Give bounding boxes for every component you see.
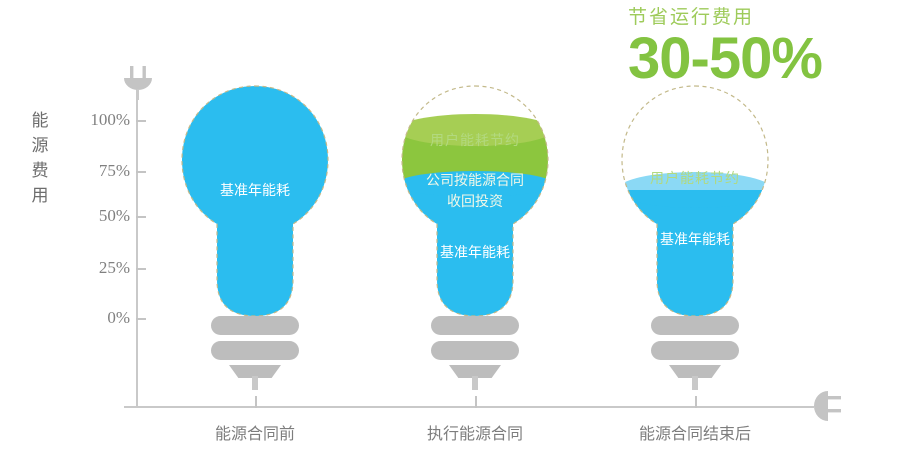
bulb-1-segment-label-baseline: 基准年能耗 bbox=[180, 180, 330, 201]
x-tick-3 bbox=[695, 396, 697, 408]
bulb-base-stem bbox=[692, 376, 698, 390]
y-tick-labels: 100% 75% 50% 25% 0% bbox=[52, 0, 130, 473]
bulb-base-thread bbox=[211, 316, 299, 335]
x-axis-label-1: 能源合同前 bbox=[165, 420, 345, 444]
bulb-2-base bbox=[431, 312, 519, 384]
y-axis-title: 能源费用 bbox=[28, 108, 52, 208]
y-tick-label-50: 50% bbox=[52, 206, 130, 226]
bulb-2-segment-label-baseline: 基准年能耗 bbox=[400, 242, 550, 263]
y-tick-label-0: 0% bbox=[52, 308, 130, 328]
bulb-3: 用户能耗节约 基准年能耗 bbox=[620, 84, 770, 318]
y-tick-label-100: 100% bbox=[52, 110, 130, 130]
y-tick-50 bbox=[136, 216, 146, 218]
y-axis-title-text: 能源费用 bbox=[28, 108, 52, 208]
x-axis-label-3: 能源合同结束后 bbox=[605, 420, 785, 444]
bulb-3-segment-label-baseline: 基准年能耗 bbox=[620, 229, 770, 250]
bulb-3-base bbox=[651, 312, 739, 384]
bulb-2-savings-label: 用户能耗节约 bbox=[395, 130, 555, 150]
x-axis-line bbox=[124, 406, 814, 408]
bulb-base-thread bbox=[431, 316, 519, 335]
bulb-base-stem bbox=[252, 376, 258, 390]
bulb-1: 基准年能耗 bbox=[180, 84, 330, 318]
bulb-base-thread bbox=[211, 341, 299, 360]
bulb-base-thread bbox=[651, 316, 739, 335]
y-tick-25 bbox=[136, 268, 146, 270]
x-axis-label-2: 执行能源合同 bbox=[385, 420, 565, 444]
y-tick-label-75: 75% bbox=[52, 161, 130, 181]
bulb-2-segment-label-company-2: 收回投资 bbox=[400, 191, 550, 212]
x-tick-1 bbox=[255, 396, 257, 408]
infographic-canvas: 节省运行费用 30-50% 100% 75% 50% 25% 0% 能源费用 bbox=[0, 0, 900, 473]
plug-socket-icon bbox=[806, 388, 842, 426]
bulb-2-segment-label-company-1: 公司按能源合同 bbox=[400, 170, 550, 191]
bulb-3-savings-label: 用户能耗节约 bbox=[615, 168, 775, 188]
y-axis-line bbox=[136, 78, 138, 408]
bulb-base-stem bbox=[472, 376, 478, 390]
headline-value: 30-50% bbox=[628, 28, 888, 90]
bulb-3-body bbox=[620, 84, 770, 318]
y-tick-100 bbox=[136, 120, 146, 122]
bulb-2: 用户能耗节约 公司按能源合同 收回投资 基准年能耗 bbox=[400, 84, 550, 318]
bulb-base-thread bbox=[431, 341, 519, 360]
y-tick-label-25: 25% bbox=[52, 258, 130, 278]
bulb-1-body bbox=[180, 84, 330, 318]
y-tick-0 bbox=[136, 318, 146, 320]
bulb-base-thread bbox=[651, 341, 739, 360]
bulb-1-base bbox=[211, 312, 299, 384]
x-tick-2 bbox=[475, 396, 477, 408]
headline-block: 节省运行费用 30-50% bbox=[628, 6, 888, 90]
y-tick-75 bbox=[136, 171, 146, 173]
